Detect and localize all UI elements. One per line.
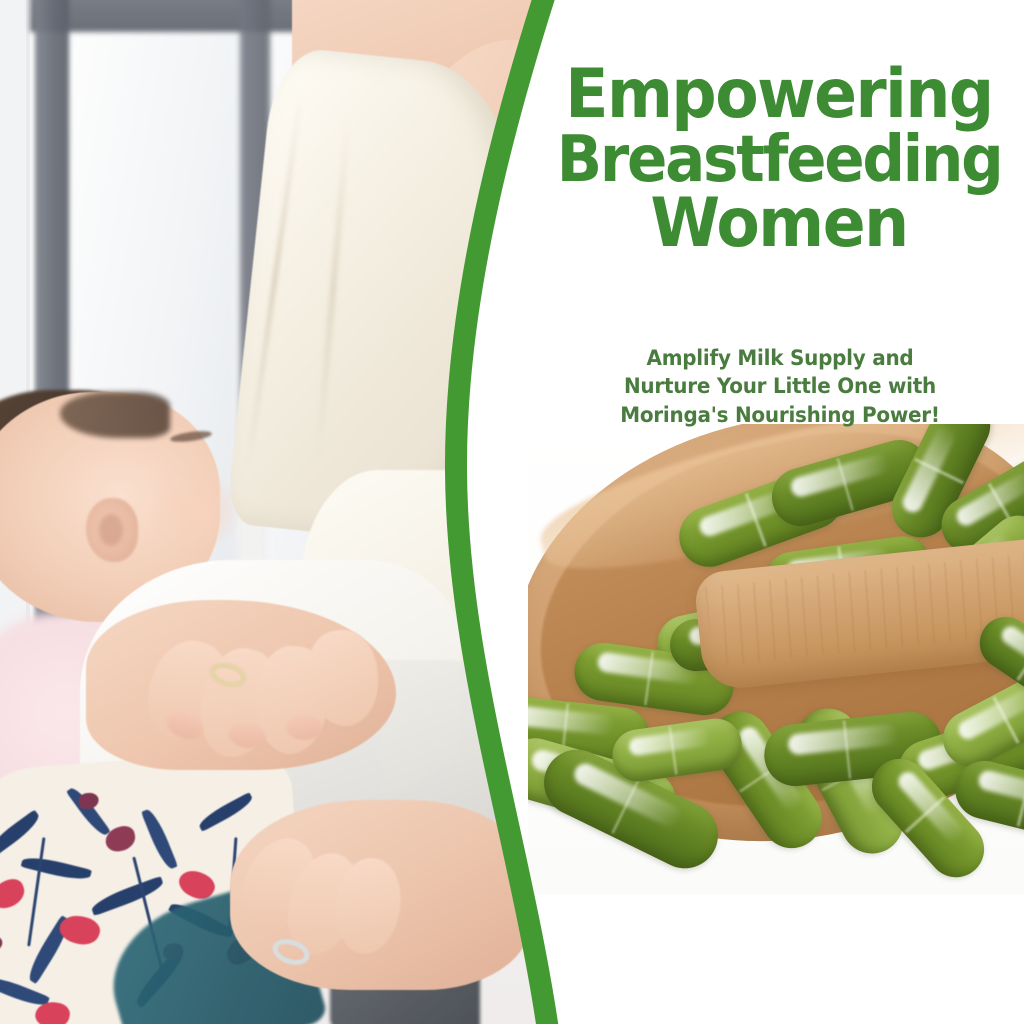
headline-line-2: Breastfeeding (557, 129, 1002, 192)
headline: Empowering Breastfeeding Women (557, 62, 1002, 258)
breastfeeding-photo (0, 0, 560, 1024)
floral-leaf (141, 807, 178, 872)
subtitle-line-1: Amplify Milk Supply and (571, 344, 989, 372)
floral-bloom (0, 875, 29, 912)
fingernail (286, 714, 322, 740)
headline-line-3: Women (557, 191, 1002, 258)
subtitle-line-3: Moringa's Nourishing Power! (571, 401, 989, 429)
floral-bud (78, 792, 99, 809)
moringa-capsules-photo (528, 424, 1024, 894)
subtitle: Amplify Milk Supply and Nurture Your Lit… (571, 344, 989, 429)
floral-stem (27, 837, 45, 946)
floral-bud (0, 935, 3, 951)
floral-leaf (89, 876, 166, 916)
floral-leaf (196, 792, 255, 832)
baby-cheek (150, 468, 240, 554)
baby-ear-inner (99, 514, 123, 546)
marketing-banner: Empowering Breastfeeding Women Amplify M… (0, 0, 1024, 1024)
subtitle-line-2: Nurture Your Little One with (571, 372, 989, 400)
headline-line-1: Empowering (557, 62, 1002, 129)
floral-leaf (0, 809, 43, 858)
floral-leaf (21, 853, 92, 884)
